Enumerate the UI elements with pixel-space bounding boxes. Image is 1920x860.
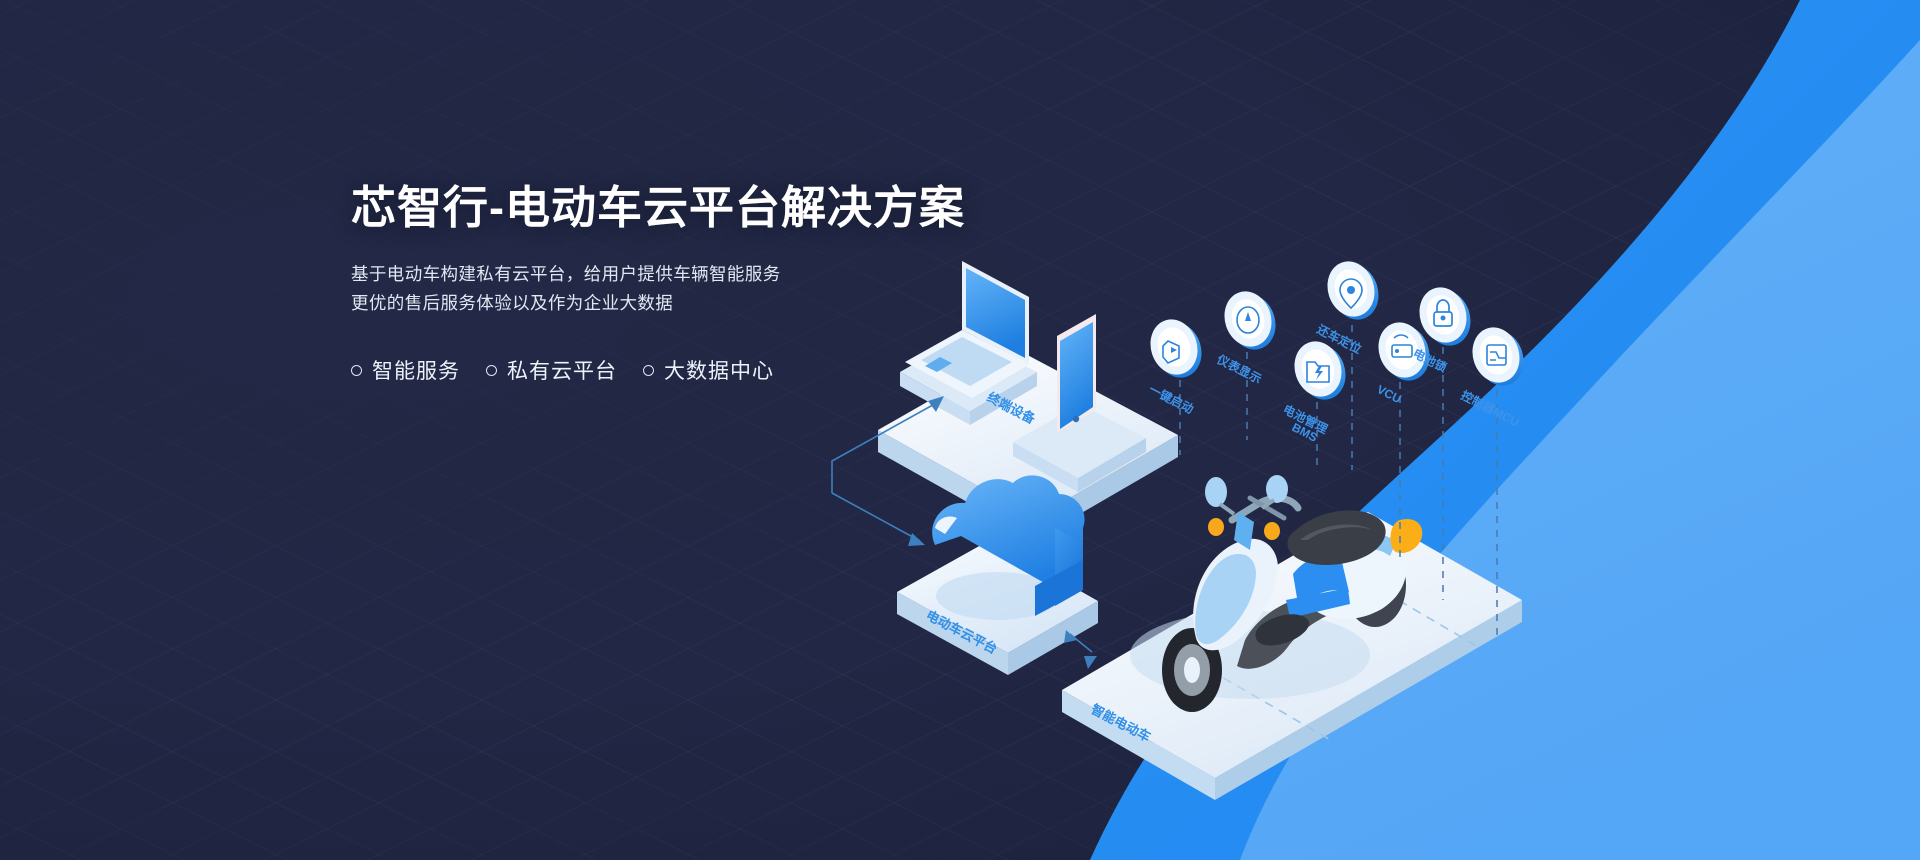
hero-subtitle: 基于电动车构建私有云平台，给用户提供车辆智能服务 更优的售后服务体验以及作为企业… [351, 260, 1071, 317]
hero-subtitle-line-1: 基于电动车构建私有云平台，给用户提供车辆智能服务 [351, 260, 1071, 288]
feature-item-big-data-center[interactable]: 大数据中心 [643, 355, 774, 385]
feature-list: 智能服务 私有云平台 大数据中心 [351, 355, 1071, 385]
circle-outline-icon [351, 365, 362, 376]
feature-item-intelligent-service[interactable]: 智能服务 [351, 355, 460, 385]
feature-label: 大数据中心 [664, 355, 774, 385]
circle-outline-icon [643, 365, 654, 376]
feature-label: 私有云平台 [507, 355, 617, 385]
hero-banner: 终端设备 电动车云平台 [0, 0, 1920, 860]
hero-copy: 芯智行-电动车云平台解决方案 基于电动车构建私有云平台，给用户提供车辆智能服务 … [351, 183, 1071, 385]
feature-label: 智能服务 [372, 355, 460, 385]
circle-outline-icon [486, 365, 497, 376]
hero-subtitle-line-2: 更优的售后服务体验以及作为企业大数据 [351, 289, 1071, 317]
page-title: 芯智行-电动车云平台解决方案 [351, 183, 1071, 233]
blue-wave-decoration [0, 0, 1920, 860]
feature-item-private-cloud[interactable]: 私有云平台 [486, 355, 617, 385]
